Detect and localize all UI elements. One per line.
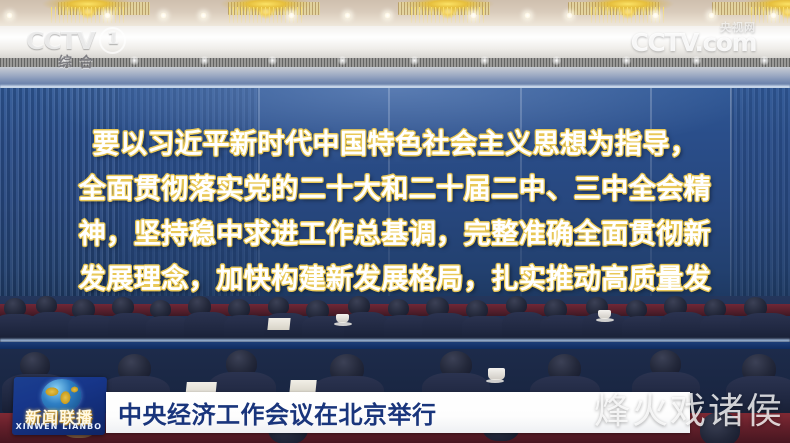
chandelier-icon xyxy=(580,0,676,26)
chandelier-icon xyxy=(400,0,496,26)
chandelier-icon xyxy=(40,0,136,26)
headline-text: 中央经济工作会议在北京举行 xyxy=(106,395,437,430)
uploader-watermark: 烽火戏诸侯 xyxy=(594,392,784,432)
channel-logo: CCTV 1 综合 xyxy=(24,27,128,75)
chandelier-icon xyxy=(218,0,314,26)
site-watermark: 央视网 CCTV.com xyxy=(631,30,756,56)
stage-backdrop xyxy=(0,88,790,303)
channel-sub-label: 综合 xyxy=(24,54,128,72)
ceiling-ornament xyxy=(0,0,790,26)
program-name-en: XINWEN LIANBO xyxy=(12,422,105,432)
site-watermark-cn: 央视网 xyxy=(720,19,756,35)
cctv-wordmark: CCTV 1 xyxy=(24,27,128,54)
tv-broadcast-frame: 要以习近平新时代中国特色社会主义思想为指导， 全面贯彻落实党的二十大和二十届二中… xyxy=(0,0,790,443)
channel-number: 1 xyxy=(99,27,126,54)
program-logo: 新闻联播 XINWEN LIANBO xyxy=(12,377,107,435)
cctv-letters: CCTV xyxy=(26,28,95,54)
row-divider-bar xyxy=(0,342,790,349)
